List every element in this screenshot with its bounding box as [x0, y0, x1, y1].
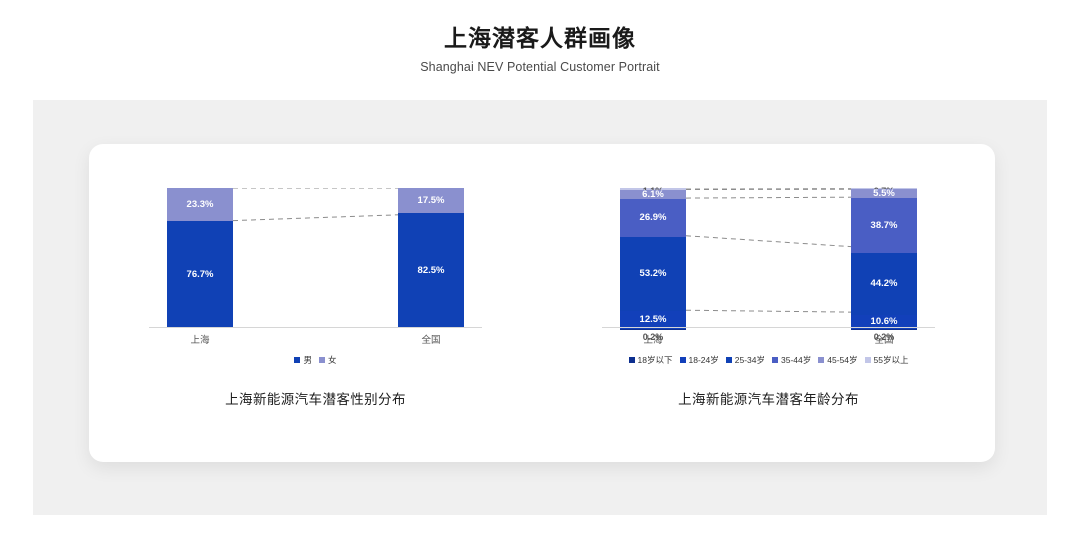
- chart-age: 1.1%6.1%26.9%53.2%12.5%0.2% 0.7%5.5%38.7…: [542, 144, 995, 462]
- chart-caption-age: 上海新能源汽车潜客年龄分布: [542, 388, 995, 408]
- charts-row: 23.3%76.7% 17.5%82.5% 上海 全国 男女 上海新能源汽车潜客…: [89, 144, 995, 462]
- category-row-age: 上海 全国: [602, 328, 935, 348]
- bar-segment[interactable]: 26.9%: [620, 199, 686, 237]
- category-row-gender: 上海 全国: [149, 328, 482, 348]
- bar-gender-national[interactable]: 17.5%82.5%: [398, 188, 464, 328]
- bar-segment-value: 6.1%: [642, 190, 664, 200]
- legend-label: 55岁以上: [874, 354, 909, 366]
- charts-card: 23.3%76.7% 17.5%82.5% 上海 全国 男女 上海新能源汽车潜客…: [89, 144, 995, 462]
- legend-age: 18岁以下18-24岁25-34岁35-44岁45-54岁55岁以上: [542, 354, 995, 366]
- legend-swatch-icon: [865, 357, 871, 363]
- bar-segment-value: 76.7%: [187, 270, 214, 280]
- page-title: 上海潜客人群画像: [0, 24, 1080, 53]
- bar-segment-value: 38.7%: [871, 221, 898, 231]
- plot-area-gender: 23.3%76.7% 17.5%82.5%: [149, 188, 482, 328]
- bar-age-national[interactable]: 0.7%5.5%38.7%44.2%10.6%0.2%: [851, 188, 917, 328]
- legend-swatch-icon: [319, 357, 325, 363]
- legend-swatch-icon: [726, 357, 732, 363]
- page-header: 上海潜客人群画像 Shanghai NEV Potential Customer…: [0, 0, 1080, 74]
- category-label-national: 全国: [398, 332, 464, 346]
- legend-label: 18岁以下: [638, 354, 673, 366]
- bar-gender-shanghai[interactable]: 23.3%76.7%: [167, 188, 233, 328]
- category-label-national: 全国: [851, 332, 917, 346]
- bar-segment[interactable]: 53.2%: [620, 237, 686, 311]
- legend-gender: 男女: [89, 354, 542, 366]
- legend-label: 男: [303, 354, 312, 366]
- bar-segment[interactable]: 17.5%: [398, 188, 464, 213]
- bar-segment[interactable]: 5.5%: [851, 189, 917, 199]
- legend-label: 18-24岁: [689, 354, 719, 366]
- chart-caption-gender: 上海新能源汽车潜客性别分布: [89, 388, 542, 408]
- page-root: 上海潜客人群画像 Shanghai NEV Potential Customer…: [0, 0, 1080, 547]
- bar-segment-value: 53.2%: [640, 269, 667, 279]
- bar-segment-value: 26.9%: [640, 213, 667, 223]
- bar-segment-value: 82.5%: [418, 266, 445, 276]
- legend-swatch-icon: [772, 357, 778, 363]
- legend-label: 35-44岁: [781, 354, 811, 366]
- bar-segment[interactable]: 76.7%: [167, 221, 233, 328]
- page-subtitle: Shanghai NEV Potential Customer Portrait: [0, 60, 1080, 74]
- legend-item[interactable]: 35-44岁: [772, 354, 811, 366]
- legend-label: 45-54岁: [827, 354, 857, 366]
- bar-segment[interactable]: 38.7%: [851, 198, 917, 252]
- bar-segment[interactable]: 82.5%: [398, 213, 464, 329]
- legend-swatch-icon: [629, 357, 635, 363]
- bar-segment-value: 17.5%: [418, 196, 445, 206]
- category-label-shanghai: 上海: [167, 332, 233, 346]
- legend-swatch-icon: [294, 357, 300, 363]
- bar-segment-value: 12.5%: [640, 315, 667, 325]
- bar-age-shanghai[interactable]: 1.1%6.1%26.9%53.2%12.5%0.2%: [620, 188, 686, 328]
- bar-segment[interactable]: 6.1%: [620, 190, 686, 200]
- legend-item[interactable]: 男: [294, 354, 312, 366]
- legend-swatch-icon: [818, 357, 824, 363]
- bar-segment-value: 23.3%: [187, 200, 214, 210]
- bar-segment-value: 5.5%: [873, 189, 895, 199]
- bar-segment[interactable]: 23.3%: [167, 188, 233, 221]
- legend-item[interactable]: 18岁以下: [629, 354, 673, 366]
- legend-label: 25-34岁: [735, 354, 765, 366]
- plot-area-age: 1.1%6.1%26.9%53.2%12.5%0.2% 0.7%5.5%38.7…: [602, 188, 935, 328]
- bar-segment-value: 10.6%: [871, 317, 898, 327]
- bar-segment-value: 44.2%: [871, 279, 898, 289]
- legend-swatch-icon: [680, 357, 686, 363]
- bar-segment[interactable]: 44.2%: [851, 253, 917, 315]
- category-label-shanghai: 上海: [620, 332, 686, 346]
- legend-item[interactable]: 45-54岁: [818, 354, 857, 366]
- legend-item[interactable]: 55岁以上: [865, 354, 909, 366]
- legend-item[interactable]: 女: [319, 354, 337, 366]
- legend-label: 女: [328, 354, 337, 366]
- legend-item[interactable]: 18-24岁: [680, 354, 719, 366]
- legend-item[interactable]: 25-34岁: [726, 354, 765, 366]
- chart-gender: 23.3%76.7% 17.5%82.5% 上海 全国 男女 上海新能源汽车潜客…: [89, 144, 542, 462]
